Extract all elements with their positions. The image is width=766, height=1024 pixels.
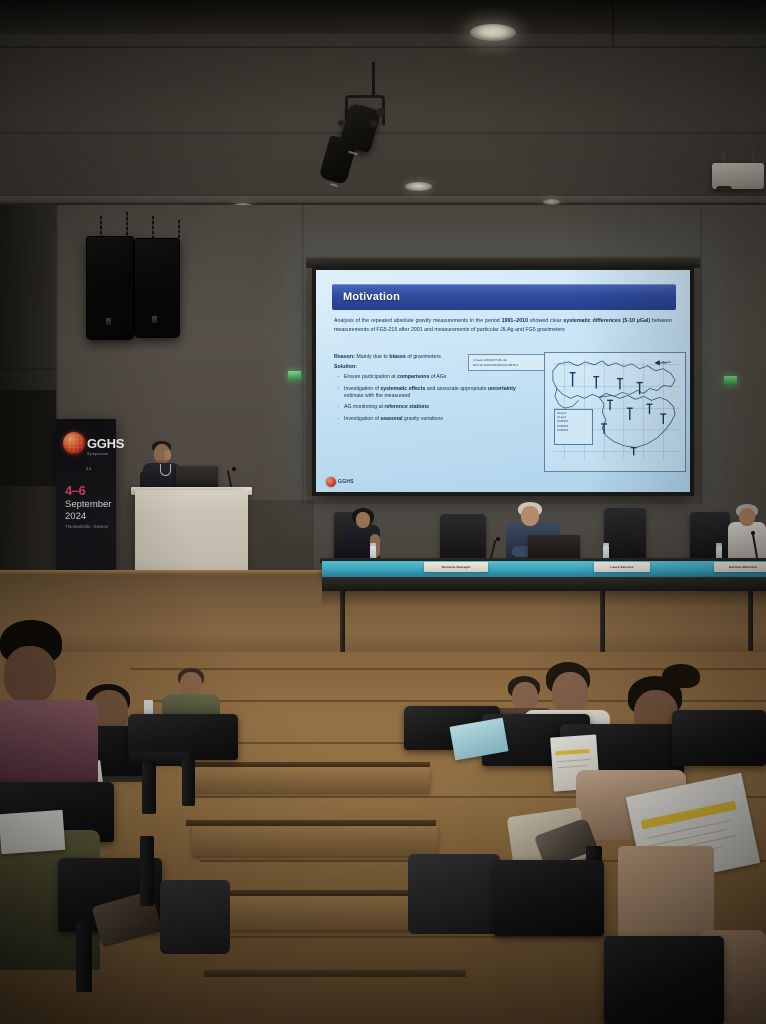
nameplate: Riccardo Barzaghi [424,562,488,572]
slide-citation-box: J Geod (2013) 87:29–42 DOI 10.1007/s0019… [468,354,554,371]
booklet-text-line [557,765,587,768]
seat-post [140,836,154,906]
ceiling-downlight [405,182,432,191]
nameplate-text: Hartmut Wziontek [729,565,757,569]
body-text: Ensure participation at [344,374,397,380]
panel-microphone-head [496,537,500,541]
banner-city: Thessaloniki, Greece [65,524,108,529]
wall-seam [302,205,304,505]
conference-seat [672,710,766,766]
audience-head [552,672,588,714]
emphasis-text: 1991–2010 [502,318,529,324]
speaker-face [164,450,171,460]
panel-table-skirt [322,577,766,591]
seat-post [182,758,195,806]
audience-head [4,646,56,704]
banner-year: 2024 [65,511,86,522]
presentation-slide: Motivation Analysis of the repeated abso… [316,270,690,492]
banner-brand: GGHS [87,436,124,451]
booklet-highlight [641,801,737,830]
nameplate-text: Riccardo Barzaghi [442,565,471,569]
emphasis-text: systematic differences (5-10 µGal) [563,318,650,324]
banner-month: September [65,499,111,510]
gghs-globe-icon [63,432,85,454]
ceiling-dark-strip [0,0,766,34]
wall-recess [0,390,56,486]
panel-table [322,561,766,577]
panelist-head [356,512,370,528]
spotlight-knob [376,108,385,117]
map-scale-label: 20 µGal [662,361,671,364]
emphasis-text: comparisons [397,374,429,380]
panel-microphone-head [751,531,755,535]
slide-bullet-list: Ensure participation at comparisons of A… [334,374,524,423]
ceiling-panel-line [0,46,766,48]
slide-bullet-item: Ensure participation at comparisons of A… [334,374,524,381]
ceiling-panel-line [0,132,766,134]
slide-footer-logo: GGHS [326,477,354,487]
body-text: Analysis of the repeated absolute gravit… [334,318,502,324]
stair-nosing [204,970,466,977]
audience-head [180,672,202,696]
projection-screen: Motivation Analysis of the repeated abso… [312,266,694,496]
body-text: AG monitoring at [344,404,384,410]
slide-map: 20 µGal JILAg 5JILAg 6FG5#107FG5#101FG5#… [544,352,686,472]
banner-brand-suffix: 24 [86,466,91,471]
emphasis-text: Reason: [334,354,355,360]
ceiling-beam [0,196,766,203]
ceiling-downlight [470,24,516,41]
slide-bullet-item: Investigation of systematic effects and … [334,386,524,401]
banner-dates: 4–6 [65,483,85,498]
pa-speaker [134,238,180,338]
seat-post [76,922,92,992]
booklet-highlight [555,749,589,755]
audience-hair [662,664,700,688]
pa-speaker-badge [106,318,111,325]
body-text: gravity variations [403,416,443,422]
emphasis-text: biases [389,354,406,360]
map-legend: JILAg 5JILAg 6FG5#107FG5#101FG5#215 [554,409,593,445]
projector-mount [722,150,725,164]
map-legend-entry: FG5#215 [557,429,590,433]
slide-bullet-item: AG monitoring at reference stations [334,404,524,411]
wall-seam [0,368,56,370]
speaker-chain [100,216,102,238]
body-text: of gravimeters [406,354,441,360]
slide-bullet-item: Investigation of seasonal gravity variat… [334,416,524,423]
panelist-head [521,506,539,526]
spotlight-rod [372,62,375,96]
booklet-text-line [648,829,726,847]
conference-seat [604,936,724,1024]
seat-post [142,762,156,814]
body-text: showed clear [528,318,563,324]
lecture-hall-scene: Motivation Analysis of the repeated abso… [0,0,766,1024]
projector-mount [752,150,755,164]
backpack [160,880,230,954]
stair-tread [186,767,430,793]
banner-subtitle: Symposium [87,452,108,456]
conference-seat [494,860,604,936]
slide-paragraph: Analysis of the repeated absolute gravit… [334,317,672,334]
spotlight-knob [338,120,344,126]
programme-booklet [0,810,65,854]
body-text: of AGs [429,374,446,380]
slide-title-bar: Motivation [332,284,676,310]
gghs-globe-icon [326,477,336,487]
emphasis-text: seasonal [380,416,402,422]
panelist-head [739,508,755,526]
exit-sign [288,371,301,380]
audience-body [0,700,98,790]
citation-doi: DOI 10.1007/s00190-012-0576-1 [473,363,549,368]
ceiling-panel-line [612,0,614,46]
wall-seam [700,205,702,505]
body-text: Mainly due to [355,354,389,360]
seat-armrest [130,752,190,766]
projector-lens [716,186,732,192]
speaker-chain [152,216,154,238]
backpack [408,854,500,934]
body-text: estimate with the measurand [344,393,410,399]
pa-speaker-badge [152,316,157,323]
panel-chair [690,512,730,562]
body-text: Investigation of [344,416,380,422]
booklet-text-line [557,759,591,762]
table-shadow [322,591,766,607]
slide-logo-text: GGHS [338,479,354,485]
spotlight-knob [370,120,377,127]
stair-tread [192,826,438,856]
nameplate: Hartmut Wziontek [714,562,766,572]
podium-microphone-head [232,467,236,471]
body-text: Investigation of [344,386,380,392]
speaker-lanyard [160,464,171,476]
slide-title: Motivation [332,291,400,303]
nameplate: Laura Sanchez [594,562,650,572]
emphasis-text: systematic effects [380,386,425,392]
speaker-chain [178,220,180,238]
exit-sign [724,376,737,385]
wall-recess [248,500,314,572]
speaker-chain [126,212,128,238]
panel-chair [604,508,646,562]
nameplate-text: Laura Sanchez [610,565,633,569]
emphasis-text: uncertainty [488,386,516,392]
body-text: and associate appropriate [425,386,488,392]
panel-chair [440,514,486,562]
emphasis-text: reference stations [384,404,429,410]
